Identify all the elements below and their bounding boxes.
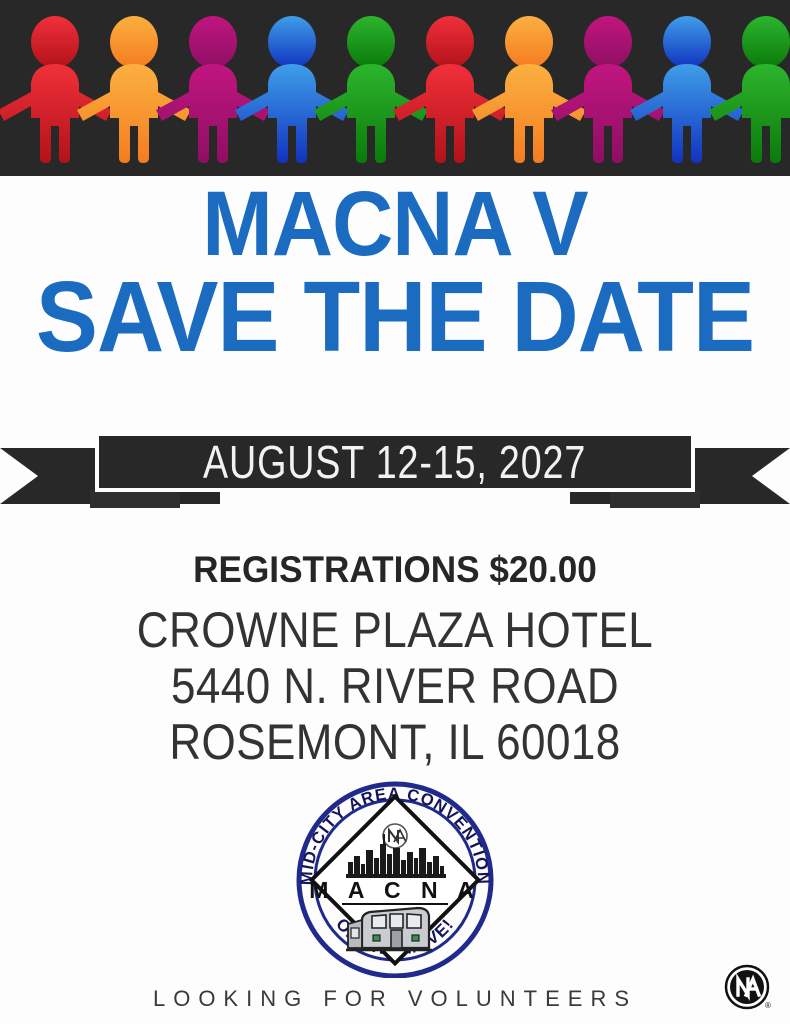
venue-address: CROWNE PLAZA HOTEL 5440 N. RIVER ROAD RO… <box>0 602 790 770</box>
address-venue: CROWNE PLAZA HOTEL <box>47 602 742 658</box>
registration-price: REGISTRATIONS $20.00 <box>20 549 771 591</box>
volunteer-callout: LOOKING FOR VOLUNTEERS <box>0 986 790 1012</box>
headline-line-1: MACNA V <box>32 182 759 267</box>
event-date: AUGUST 12-15, 2027 <box>203 435 586 489</box>
address-street: 5440 N. RIVER ROAD <box>47 658 742 714</box>
ribbon-fold-right <box>610 490 700 508</box>
na-trademark-badge: ® <box>723 963 775 1015</box>
na-badge-trademark: ® <box>765 1001 771 1010</box>
seal-diamond-text: M A C N A <box>309 877 481 903</box>
page-title: MACNA V SAVE THE DATE <box>0 182 790 363</box>
people-figure-row <box>0 0 790 176</box>
ribbon-panel: AUGUST 12-15, 2027 <box>95 432 695 492</box>
headline-line-2: SAVE THE DATE <box>28 271 763 363</box>
people-band <box>0 0 790 176</box>
macna-seal-logo: MID-CITY AREA CONVENTION ON THE MOVE! <box>290 778 500 978</box>
person-figure-10 <box>707 14 790 164</box>
date-ribbon: AUGUST 12-15, 2027 <box>0 424 790 544</box>
address-city: ROSEMONT, IL 60018 <box>47 714 742 770</box>
save-the-date-poster: MACNA V SAVE THE DATE AUGUST 12-15, 2027… <box>0 0 790 1024</box>
ribbon-fold-left <box>90 490 180 508</box>
